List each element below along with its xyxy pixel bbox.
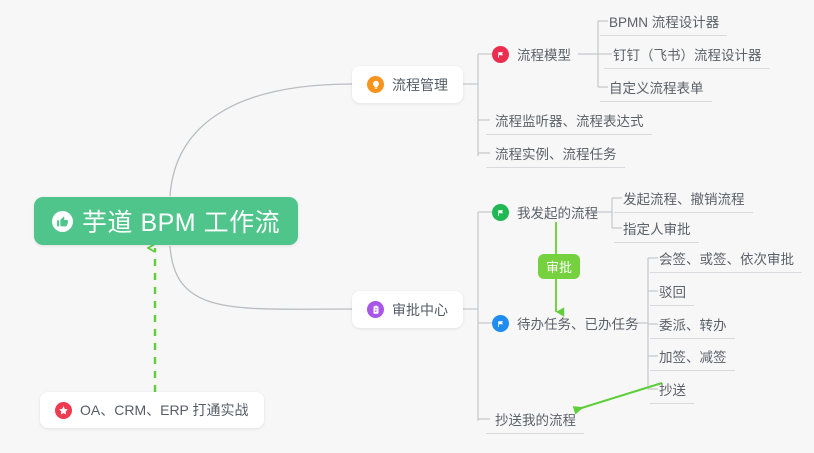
leaf-label: 加签、减签 <box>659 346 727 366</box>
leaf-listener-expression[interactable]: 流程监听器、流程表达式 <box>486 106 652 135</box>
leaf-label: 抄送 <box>659 379 686 399</box>
approval-annotation-label: 审批 <box>546 257 572 276</box>
bottom-note-label: OA、CRM、ERP 打通实战 <box>80 400 249 420</box>
flag-icon <box>492 204 509 221</box>
leaf-add-remove-sign[interactable]: 加签、减签 <box>650 342 735 371</box>
node-label: 我发起的流程 <box>517 202 598 222</box>
leaf-label: 自定义流程表单 <box>609 77 704 97</box>
leaf-cc[interactable]: 抄送 <box>650 375 694 404</box>
branch-label: 流程管理 <box>392 75 448 95</box>
branch-approval-center[interactable]: 审批中心 <box>352 291 463 328</box>
leaf-label: 发起流程、撤销流程 <box>623 188 745 208</box>
root-node[interactable]: 芋道 BPM 工作流 <box>34 197 298 245</box>
approval-annotation-badge: 审批 <box>538 254 580 279</box>
node-label: 流程模型 <box>517 44 571 64</box>
leaf-label: 抄送我的流程 <box>495 409 576 429</box>
leaf-cc-to-me[interactable]: 抄送我的流程 <box>486 405 584 434</box>
leaf-label: 钉钉（飞书）流程设计器 <box>613 44 762 64</box>
thumbs-up-icon <box>52 211 73 232</box>
lightbulb-icon <box>367 76 384 93</box>
star-icon <box>55 402 72 419</box>
leaf-custom-process-form[interactable]: 自定义流程表单 <box>600 73 712 102</box>
branch-process-management[interactable]: 流程管理 <box>352 66 463 103</box>
flag-icon <box>492 315 509 332</box>
bottom-note-node[interactable]: OA、CRM、ERP 打通实战 <box>40 392 264 428</box>
node-process-model[interactable]: 流程模型 <box>492 40 571 68</box>
leaf-label: 流程监听器、流程表达式 <box>495 110 644 130</box>
leaf-label: 委派、转办 <box>659 314 727 334</box>
leaf-counter-or-sequential[interactable]: 会签、或签、依次审批 <box>650 244 802 273</box>
clipboard-icon <box>367 301 384 318</box>
node-my-initiated[interactable]: 我发起的流程 <box>492 198 598 226</box>
leaf-label: 驳回 <box>659 281 686 301</box>
leaf-instance-task[interactable]: 流程实例、流程任务 <box>486 139 625 168</box>
node-label: 待办任务、已办任务 <box>517 313 639 333</box>
leaf-bpmn-designer[interactable]: BPMN 流程设计器 <box>600 7 727 36</box>
leaf-label: BPMN 流程设计器 <box>609 11 719 31</box>
mindmap-canvas: 芋道 BPM 工作流 OA、CRM、ERP 打通实战 流程管理 流程模型 BPM… <box>0 0 814 453</box>
flag-icon <box>492 46 509 63</box>
leaf-delegate-transfer[interactable]: 委派、转办 <box>650 310 735 339</box>
leaf-start-cancel[interactable]: 发起流程、撤销流程 <box>614 184 753 213</box>
leaf-reject[interactable]: 驳回 <box>650 277 694 306</box>
leaf-label: 会签、或签、依次审批 <box>659 248 794 268</box>
branch-label: 审批中心 <box>392 300 448 320</box>
leaf-label: 指定人审批 <box>623 218 691 238</box>
leaf-label: 流程实例、流程任务 <box>495 143 617 163</box>
leaf-assignee-approval[interactable]: 指定人审批 <box>614 214 699 243</box>
leaf-dingtalk-feishu-designer[interactable]: 钉钉（飞书）流程设计器 <box>604 40 770 69</box>
node-todo-done[interactable]: 待办任务、已办任务 <box>492 309 639 337</box>
root-label: 芋道 BPM 工作流 <box>82 203 280 239</box>
